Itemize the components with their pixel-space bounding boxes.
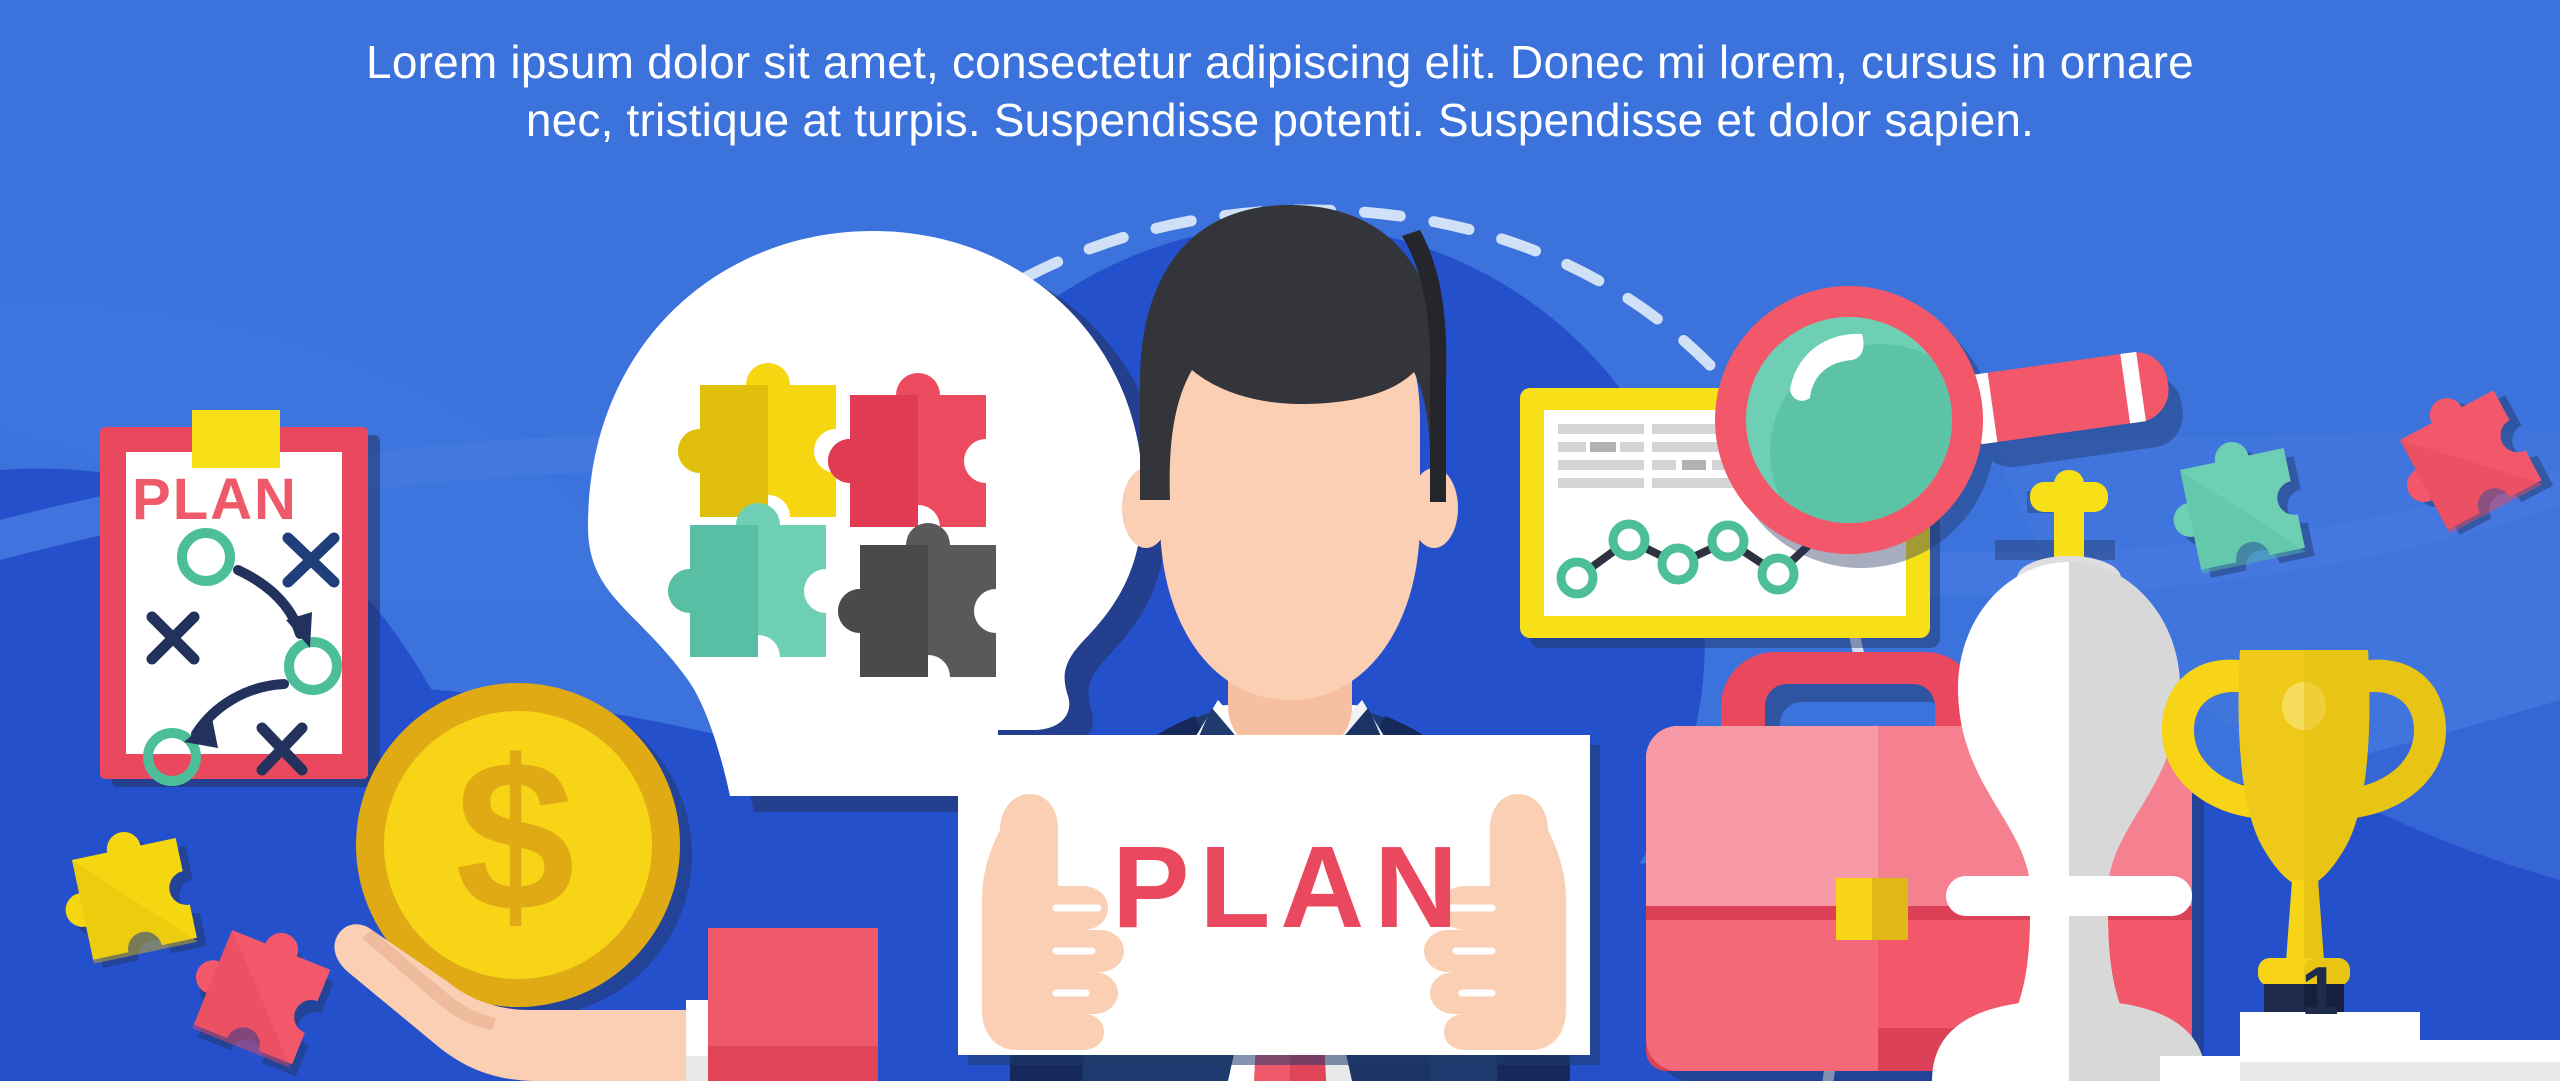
podium-rank-number: 1 [2280, 952, 2360, 1030]
head-puzzle-piece-red[interactable] [828, 373, 986, 527]
chart-point-5 [1762, 558, 1794, 590]
chart-point-4 [1712, 525, 1744, 557]
clipboard-title: PLAN [100, 466, 330, 533]
illustration-stage: Lorem ipsum dolor sit amet, consectetur … [0, 0, 2560, 1081]
podium-block-left [2160, 1056, 2244, 1081]
podium-block-shade [2240, 1062, 2560, 1081]
coin-dollar-symbol: $ [400, 728, 630, 943]
head-puzzle-piece-yellow[interactable] [678, 363, 836, 517]
plan-sign-label: PLAN [960, 820, 1620, 954]
sleeve-shade [708, 1046, 878, 1081]
head-puzzle-piece-dark[interactable] [838, 523, 996, 677]
chart-point-1 [1561, 562, 1593, 594]
briefcase-lock-shade [1872, 878, 1908, 940]
chart-point-2 [1613, 524, 1645, 556]
chart-point-3 [1662, 548, 1694, 580]
chess-king-collar [1946, 876, 2192, 916]
clipboard-clip [192, 410, 280, 468]
head-puzzle-piece-teal[interactable] [668, 503, 826, 657]
